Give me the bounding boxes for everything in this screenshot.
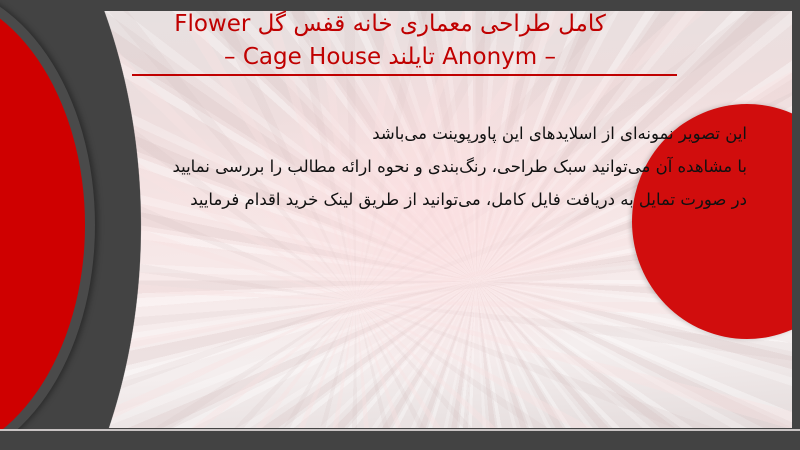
slide-title-line-2: – Anonym تایلند Cage House – (40, 41, 740, 74)
body-line-3: در صورت تمایل به دریافت فایل کامل، می‌تو… (47, 183, 747, 216)
body-line-2: با مشاهده آن می‌توانید سبک طراحی، رنگ‌بن… (47, 150, 747, 183)
body-line-1: این تصویر نمونه‌ای از اسلایدهای این پاور… (47, 117, 747, 150)
slide-title-line-1: کامل طراحی معماری خانه قفس گل Flower (40, 8, 740, 41)
slide-title: کامل طراحی معماری خانه قفس گل Flower – A… (40, 8, 740, 74)
bottom-dark-band (0, 431, 800, 450)
slide-body-text: این تصویر نمونه‌ای از اسلایدهای این پاور… (47, 117, 747, 216)
title-underline-rule (132, 74, 677, 76)
presentation-slide: کامل طراحی معماری خانه قفس گل Flower – A… (0, 0, 800, 450)
